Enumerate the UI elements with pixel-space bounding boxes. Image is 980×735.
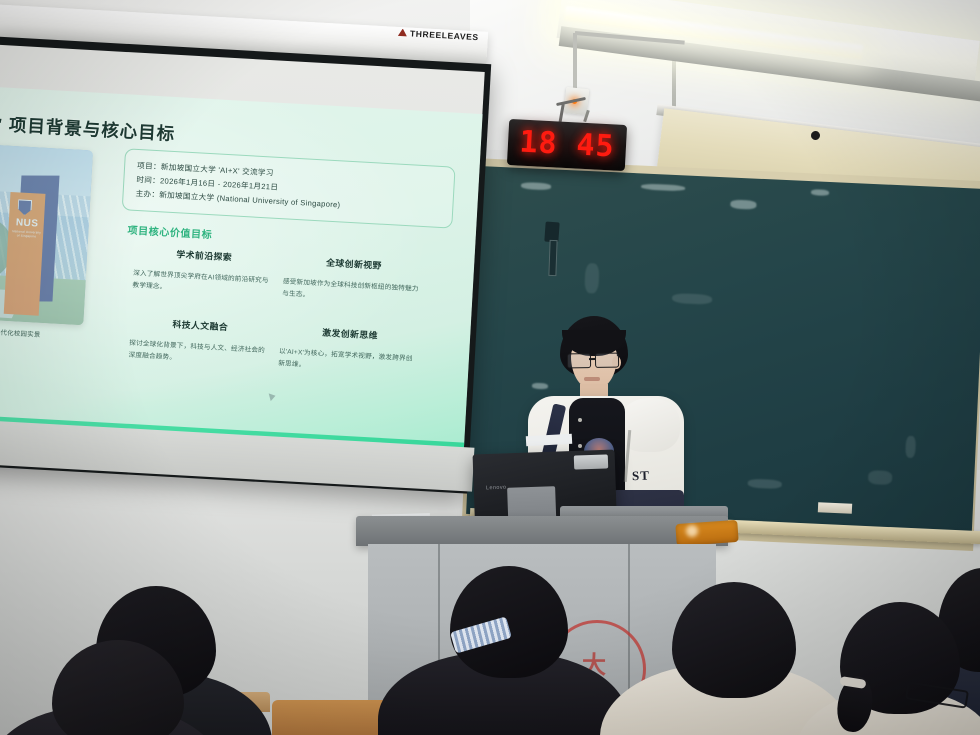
slide-value-grid: 学术前沿探索 深入了解世界顶尖学府在AI领域的前沿研究与教学理念。 全球创新视野… <box>125 244 425 261</box>
projector-bracket-arm <box>548 240 557 276</box>
wall-conduit <box>573 33 577 91</box>
blackboard-eraser <box>818 502 852 514</box>
value-title: 科技人文融合 <box>130 315 271 336</box>
digital-wall-clock: 18 45 <box>507 119 627 171</box>
value-title: 全球创新视野 <box>284 253 425 274</box>
value-desc: 深入了解世界顶尖学府在AI领域的前沿研究与教学理念。 <box>132 268 273 299</box>
glasses-lens-right <box>595 353 619 368</box>
photo-caption: 国立大学 (NUS) 现代化校园实景 <box>0 324 119 343</box>
clock-hours: 18 <box>519 128 559 160</box>
glasses-lens-left <box>567 353 591 368</box>
clock-display: 18 45 <box>519 128 616 163</box>
value-desc: 感受新加坡作为全球科技创新枢纽的独特魅力与生态。 <box>282 276 423 307</box>
presenter-mouth <box>584 377 600 381</box>
photo-projection-haze <box>0 142 93 325</box>
classroom-photo: THREELEAVES I+X' 项目背景与核心目标 NUS National … <box>0 0 980 735</box>
presenter-glasses-icon <box>567 353 621 367</box>
value-item: 科技人文融合 探讨全球化背景下，科技与人文、经济社会的深度融合趋势。 <box>128 315 270 369</box>
value-item: 全球创新视野 感受新加坡作为全球科技创新枢纽的独特魅力与生态。 <box>282 253 424 307</box>
value-item: 激发创新思维 以'AI+X'为核心，拓宽学术视野，激发跨界创新思维。 <box>278 323 420 377</box>
value-desc: 探讨全球化背景下，科技与人文、经济社会的深度融合趋势。 <box>128 338 269 369</box>
podium-top-surface <box>356 516 728 546</box>
jacket-logo-text: ST <box>632 468 650 485</box>
value-title: 激发创新思维 <box>280 323 421 344</box>
monitor-brand-label: Lenovo <box>486 485 507 492</box>
tape-roll[interactable] <box>675 520 738 546</box>
value-item: 学术前沿探索 深入了解世界顶尖学府在AI领域的前沿研究与教学理念。 <box>132 245 274 299</box>
threeleaves-logo-icon <box>398 28 407 37</box>
tape-roll-highlight <box>686 525 698 537</box>
value-desc: 以'AI+X'为核心，拓宽学术视野，激发跨界创新思维。 <box>278 346 419 377</box>
nus-campus-photo: NUS National University of Singapore <box>0 142 93 325</box>
value-title: 学术前沿探索 <box>134 245 275 266</box>
clock-minutes: 45 <box>576 131 616 163</box>
classroom-chair <box>272 700 392 735</box>
presentation-slide: I+X' 项目背景与核心目标 NUS National University o… <box>0 86 483 449</box>
jacket-snap-button <box>578 418 582 422</box>
mouse-cursor-icon <box>269 391 281 401</box>
jacket-snap-button <box>578 444 582 448</box>
slide-info-box: 项目：新加坡国立大学 'AI+X' 交流学习 时间：2026年1月16日 - 2… <box>122 148 456 229</box>
monitor-clip <box>574 454 608 469</box>
slide-title: I+X' 项目背景与核心目标 <box>0 109 266 151</box>
slide-section-heading: 项目核心价值目标 <box>127 222 213 242</box>
